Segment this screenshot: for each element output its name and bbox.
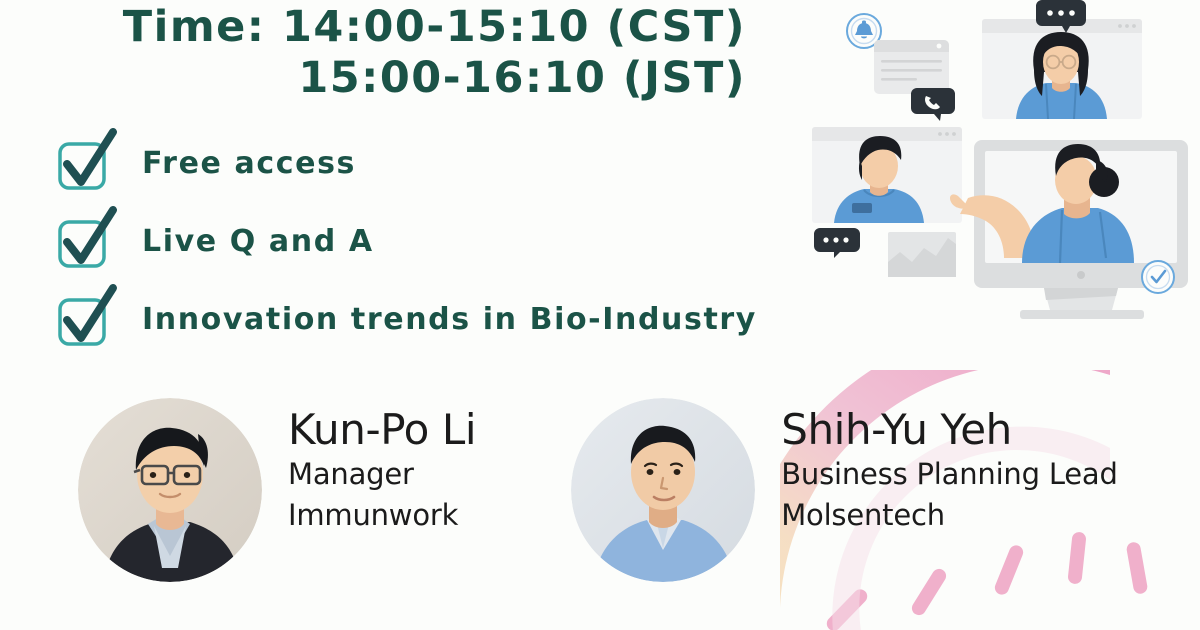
speaker-info: Shih-Yu Yeh Business Planning Lead Molse…: [781, 398, 1118, 536]
checklist-item-innovation-trends: Innovation trends in Bio-Industry: [57, 288, 757, 351]
area-chart-card: [888, 232, 956, 277]
check-circle-icon: [1142, 261, 1174, 293]
checklist-label: Free access: [142, 146, 356, 181]
browser-window-woman: [982, 0, 1142, 119]
speaker-name: Kun-Po Li: [288, 406, 476, 454]
checklist-label: Live Q and A: [142, 224, 374, 259]
checkbox-checked-icon: [57, 136, 117, 192]
speaker-portrait-photo: [78, 398, 262, 582]
time-heading: Time: 14:00-15:10 (CST) 15:00-16:10 (JST…: [0, 2, 790, 104]
speaker-card-2: Shih-Yu Yeh Business Planning Lead Molse…: [571, 398, 1118, 582]
browser-window-man: [812, 127, 962, 223]
speaker-organization: Immunwork: [288, 495, 476, 536]
time-line-jst: 15:00-16:10 (JST): [0, 53, 790, 104]
checkbox-checked-icon: [57, 214, 117, 270]
phone-call-bubble-icon: [911, 88, 955, 121]
chat-dots-bubble-icon: [814, 228, 860, 258]
checklist-item-live-qa: Live Q and A: [57, 210, 757, 273]
checklist-label: Innovation trends in Bio-Industry: [142, 302, 757, 337]
document-card: [874, 40, 949, 94]
checkbox-checked-icon: [57, 292, 117, 348]
speaker-card-1: Kun-Po Li Manager Immunwork: [78, 398, 476, 582]
speaker-portrait-photo: [571, 398, 755, 582]
video-conference-illustration: [808, 0, 1198, 320]
feature-checklist: Free access Live Q and A Innovation tren…: [57, 132, 757, 351]
speaker-role: Manager: [288, 454, 476, 495]
speakers-section: Kun-Po Li Manager Immunwork: [0, 398, 1200, 582]
speaker-name: Shih-Yu Yeh: [781, 406, 1118, 454]
checklist-item-free-access: Free access: [57, 132, 757, 195]
speaker-info: Kun-Po Li Manager Immunwork: [288, 398, 476, 536]
speaker-role: Business Planning Lead: [781, 454, 1118, 495]
speaker-organization: Molsentech: [781, 495, 1118, 536]
time-line-cst: Time: 14:00-15:10 (CST): [0, 2, 790, 53]
webinar-poster: Time: 14:00-15:10 (CST) 15:00-16:10 (JST…: [0, 0, 1200, 630]
